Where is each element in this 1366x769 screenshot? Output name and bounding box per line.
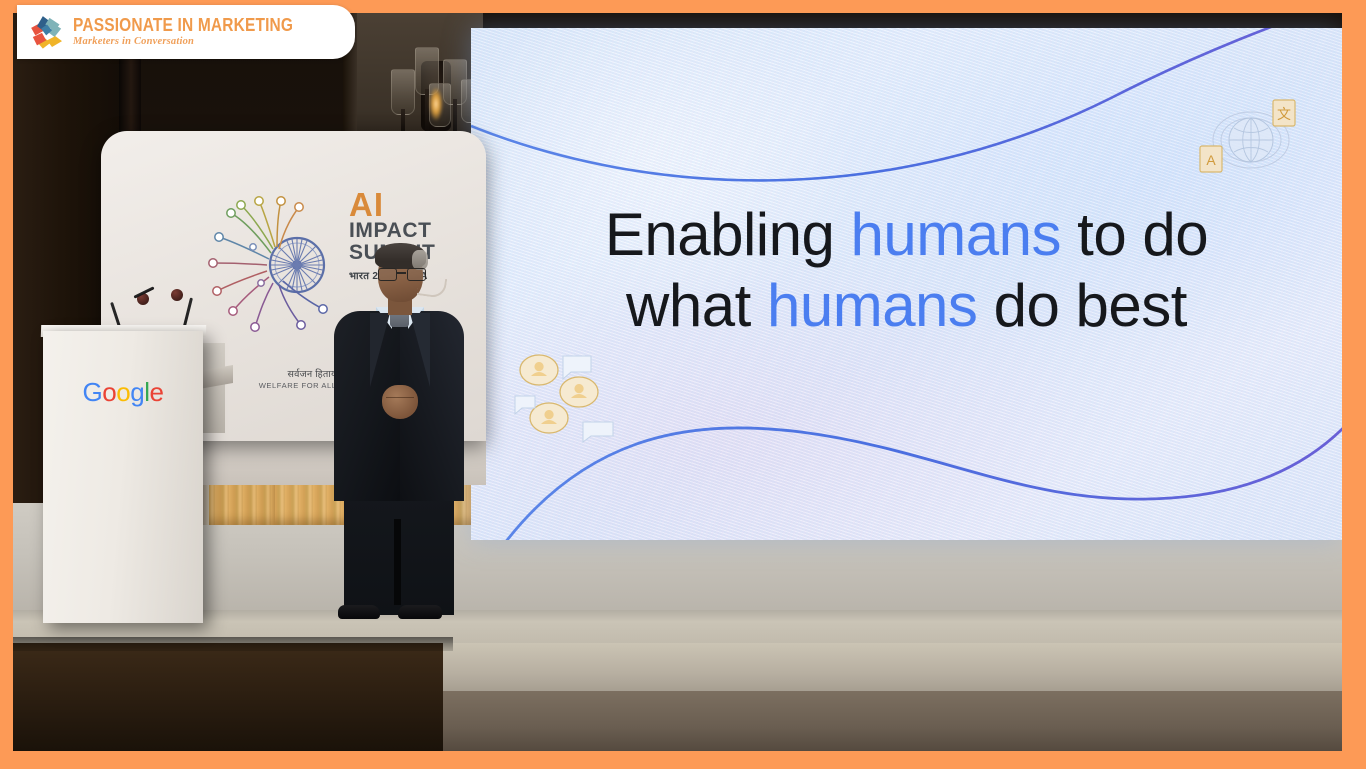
watermark-title: PASSIONATE IN MARKETING	[73, 16, 293, 34]
frame-border-left	[0, 0, 13, 769]
speaker-hands	[382, 385, 418, 419]
google-letter-o1: o	[102, 377, 116, 407]
google-podium: Google	[43, 331, 203, 623]
presentation-screen: 文 A	[471, 28, 1342, 540]
stage-shadow	[13, 637, 453, 651]
pinwheel-arrows-logo-icon	[27, 12, 67, 52]
globe-translate-icon: 文 A	[1196, 90, 1306, 186]
people-chat-avatars-icon	[513, 340, 621, 450]
frame-border-right	[1342, 0, 1366, 769]
headline-text-pre-2: what	[626, 272, 767, 339]
headline-text-post-2: do best	[977, 272, 1187, 339]
svg-text:A: A	[1206, 152, 1216, 168]
frame-border-bottom	[0, 751, 1366, 769]
google-letter-o2: o	[116, 377, 130, 407]
stage-photo-image: 文 A	[0, 0, 1366, 769]
glasses-icon	[378, 268, 424, 279]
google-letter-G: G	[83, 377, 103, 407]
google-logo: Google	[43, 377, 203, 408]
speaker-shoe-left	[338, 605, 380, 619]
slide-headline: Enabling humans to do what humans do bes…	[471, 200, 1342, 342]
slide-headline-line1: Enabling humans to do	[471, 200, 1342, 271]
google-letter-g: g	[130, 377, 144, 407]
summit-ai-text: AI	[349, 189, 479, 220]
watermark-subtitle: Marketers in Conversation	[73, 37, 329, 48]
headset-microphone-icon	[417, 275, 448, 299]
speaker-shoe-right	[398, 605, 442, 619]
google-letter-e: e	[149, 377, 163, 407]
stage-dark-left-region	[13, 643, 443, 751]
headline-text-post: to do	[1061, 201, 1208, 268]
slide-headline-line2: what humans do best	[471, 271, 1342, 342]
photo-canvas: 文 A	[13, 13, 1342, 751]
speaker-person	[326, 237, 470, 623]
watermark-badge: PASSIONATE IN MARKETING Marketers in Con…	[17, 5, 355, 59]
headline-accent-word-2: humans	[767, 272, 977, 339]
stage-step-lower	[433, 691, 1342, 751]
headline-text-pre: Enabling	[605, 201, 851, 268]
svg-text:文: 文	[1277, 106, 1291, 122]
headline-accent-word: humans	[851, 201, 1061, 268]
